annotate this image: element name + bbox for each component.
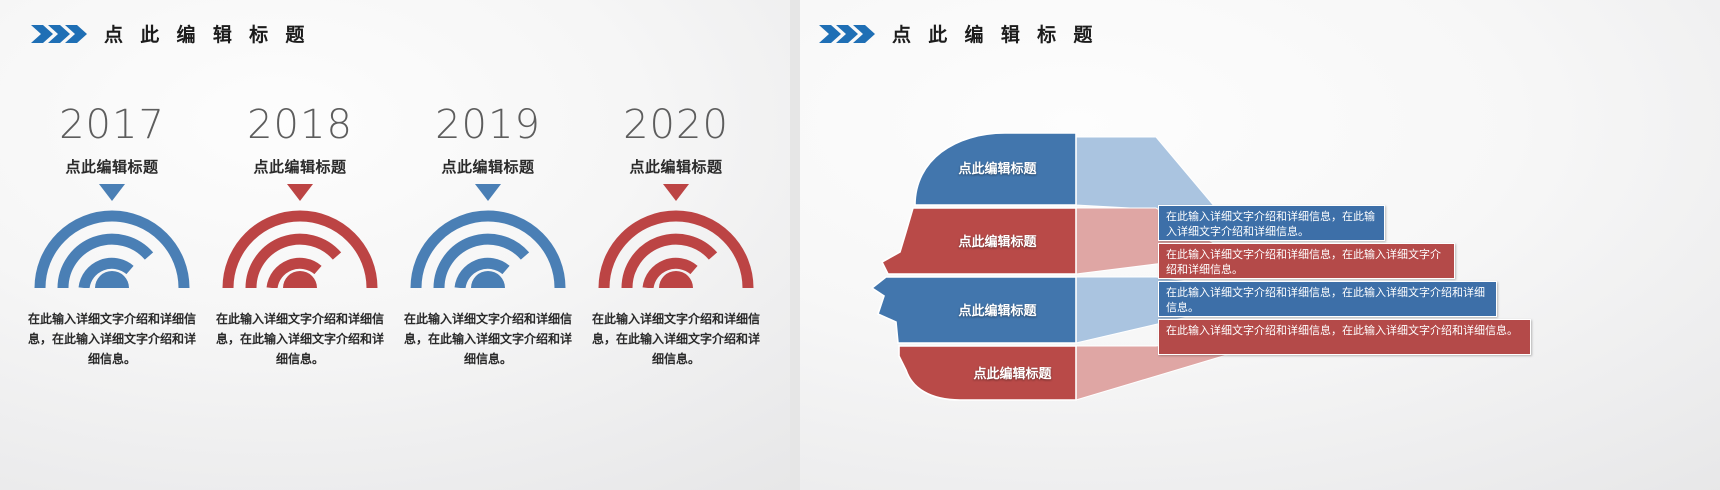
column-subtitle: 点此编辑标题 xyxy=(629,156,722,177)
year-label: 2020 xyxy=(623,105,729,145)
timeline-column[interactable]: 2017 点此编辑标题 在此输入详细文字介绍和详细信息，在此输入详细文字介绍和详… xyxy=(18,105,206,369)
triple-chevron-right-icon xyxy=(30,22,88,46)
column-body-text: 在此输入详细文字介绍和详细信息，在此输入详细文字介绍和详细信息。 xyxy=(27,310,197,369)
arrow-down-icon xyxy=(99,184,125,201)
radar-arc-icon xyxy=(408,206,568,288)
callout-box[interactable]: 在此输入详细文字介绍和详细信息，在此输入详细文字介绍和详细信息。 xyxy=(1158,281,1497,317)
page-title: 点 此 编 辑 标 题 xyxy=(104,20,310,47)
slide-divider xyxy=(790,0,800,490)
callout-box[interactable]: 在此输入详细文字介绍和详细信息，在此输入详细文字介绍和详细信息。 xyxy=(1158,205,1385,241)
column-subtitle: 点此编辑标题 xyxy=(65,156,158,177)
radar-arc-icon xyxy=(596,206,756,288)
year-label: 2017 xyxy=(59,105,165,145)
column-subtitle: 点此编辑标题 xyxy=(253,156,346,177)
timeline-column[interactable]: 2020 点此编辑标题 在此输入详细文字介绍和详细信息，在此输入详细文字介绍和详… xyxy=(582,105,770,369)
callout-box[interactable]: 在此输入详细文字介绍和详细信息，在此输入详细文字介绍和详细信息。 xyxy=(1158,243,1455,279)
arrow-down-icon xyxy=(287,184,313,201)
radar-arc-icon xyxy=(32,206,192,288)
head-band-label: 点此编辑标题 xyxy=(930,363,1095,382)
timeline-column[interactable]: 2018 点此编辑标题 在此输入详细文字介绍和详细信息，在此输入详细文字介绍和详… xyxy=(206,105,394,369)
timeline-column[interactable]: 2019 点此编辑标题 在此输入详细文字介绍和详细信息，在此输入详细文字介绍和详… xyxy=(394,105,582,369)
column-body-text: 在此输入详细文字介绍和详细信息，在此输入详细文字介绍和详细信息。 xyxy=(215,310,385,369)
column-subtitle: 点此编辑标题 xyxy=(441,156,534,177)
arrow-down-icon xyxy=(663,184,689,201)
column-body-text: 在此输入详细文字介绍和详细信息，在此输入详细文字介绍和详细信息。 xyxy=(403,310,573,369)
year-label: 2019 xyxy=(435,105,541,145)
callout-box[interactable]: 在此输入详细文字介绍和详细信息，在此输入详细文字介绍和详细信息。 xyxy=(1158,319,1531,355)
head-band-label: 点此编辑标题 xyxy=(915,300,1080,319)
head-band-label: 点此编辑标题 xyxy=(915,158,1080,177)
radar-arc-icon xyxy=(220,206,380,288)
slide-title-bar: 点 此 编 辑 标 题 xyxy=(30,20,310,47)
column-body-text: 在此输入详细文字介绍和详细信息，在此输入详细文字介绍和详细信息。 xyxy=(591,310,761,369)
arrow-down-icon xyxy=(475,184,501,201)
year-label: 2018 xyxy=(247,105,353,145)
head-band-label: 点此编辑标题 xyxy=(915,231,1080,250)
slide-timeline: 点 此 编 辑 标 题 2017 点此编辑标题 xyxy=(0,0,790,490)
slide-head-diagram: 点 此 编 辑 标 题 xyxy=(800,0,1720,490)
slide-deck: 点 此 编 辑 标 题 2017 点此编辑标题 xyxy=(0,0,1720,490)
head-diagram: 点此编辑标题 点此编辑标题 点此编辑标题 点此编辑标题 在此输入详细文字介绍和详… xyxy=(800,0,1720,490)
timeline-columns: 2017 点此编辑标题 在此输入详细文字介绍和详细信息，在此输入详细文字介绍和详… xyxy=(18,105,772,369)
